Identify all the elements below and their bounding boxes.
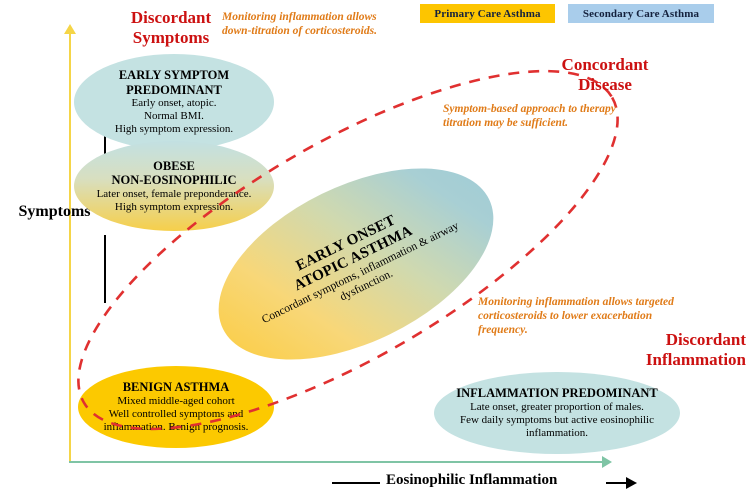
label-concordant-disease: ConcordantDisease bbox=[520, 55, 690, 95]
annotation-symptom-based-approach: Symptom-based approach to therapy titrat… bbox=[443, 102, 618, 130]
symptoms-axis-bar-lower bbox=[104, 235, 106, 303]
bubble-early-symptom-predominant: EARLY SYMPTOMPREDOMINANT Early onset, at… bbox=[74, 54, 274, 150]
x-axis-label-arrow-shaft bbox=[606, 482, 628, 484]
bubble-detail: Early onset, atopic.Normal BMI.High symp… bbox=[115, 97, 233, 136]
x-axis-label-rule bbox=[332, 482, 380, 484]
bubble-headline: INFLAMMATION PREDOMINANT bbox=[456, 386, 658, 401]
bubble-text-group: EARLY ONSETATOPIC ASTHMA Concordant symp… bbox=[245, 188, 468, 339]
x-axis-line bbox=[69, 461, 606, 463]
bubble-headline: OBESENON-EOSINOPHILIC bbox=[111, 159, 236, 188]
x-axis-label-arrowhead-icon bbox=[626, 477, 637, 489]
x-axis-arrowhead-icon bbox=[602, 456, 612, 468]
bubble-obese-non-eosinophilic: OBESENON-EOSINOPHILIC Later onset, femal… bbox=[74, 141, 274, 231]
annotation-targeted-corticosteroids: Monitoring inflammation allows targeted … bbox=[478, 295, 688, 337]
y-axis-line bbox=[69, 30, 71, 463]
bubble-headline: BENIGN ASTHMA bbox=[123, 380, 230, 395]
bubble-headline: EARLY SYMPTOMPREDOMINANT bbox=[119, 68, 229, 97]
bubble-detail: Later onset, female preponderance.High s… bbox=[97, 188, 252, 214]
bubble-inflammation-predominant: INFLAMMATION PREDOMINANT Late onset, gre… bbox=[434, 372, 680, 454]
legend-secondary-care-asthma: Secondary Care Asthma bbox=[568, 4, 714, 23]
bubble-detail: Late onset, greater proportion of males.… bbox=[460, 401, 654, 440]
annotation-down-titration: Monitoring inflammation allows down-titr… bbox=[222, 10, 397, 38]
x-axis-label: Eosinophilic Inflammation bbox=[386, 472, 557, 489]
legend-primary-care-asthma: Primary Care Asthma bbox=[420, 4, 555, 23]
diagram-canvas: Primary Care Asthma Secondary Care Asthm… bbox=[0, 0, 750, 493]
bubble-detail: Mixed middle-aged cohortWell controlled … bbox=[104, 395, 249, 434]
bubble-benign-asthma: BENIGN ASTHMA Mixed middle-aged cohortWe… bbox=[78, 366, 274, 448]
y-axis-arrowhead-icon bbox=[64, 24, 76, 34]
